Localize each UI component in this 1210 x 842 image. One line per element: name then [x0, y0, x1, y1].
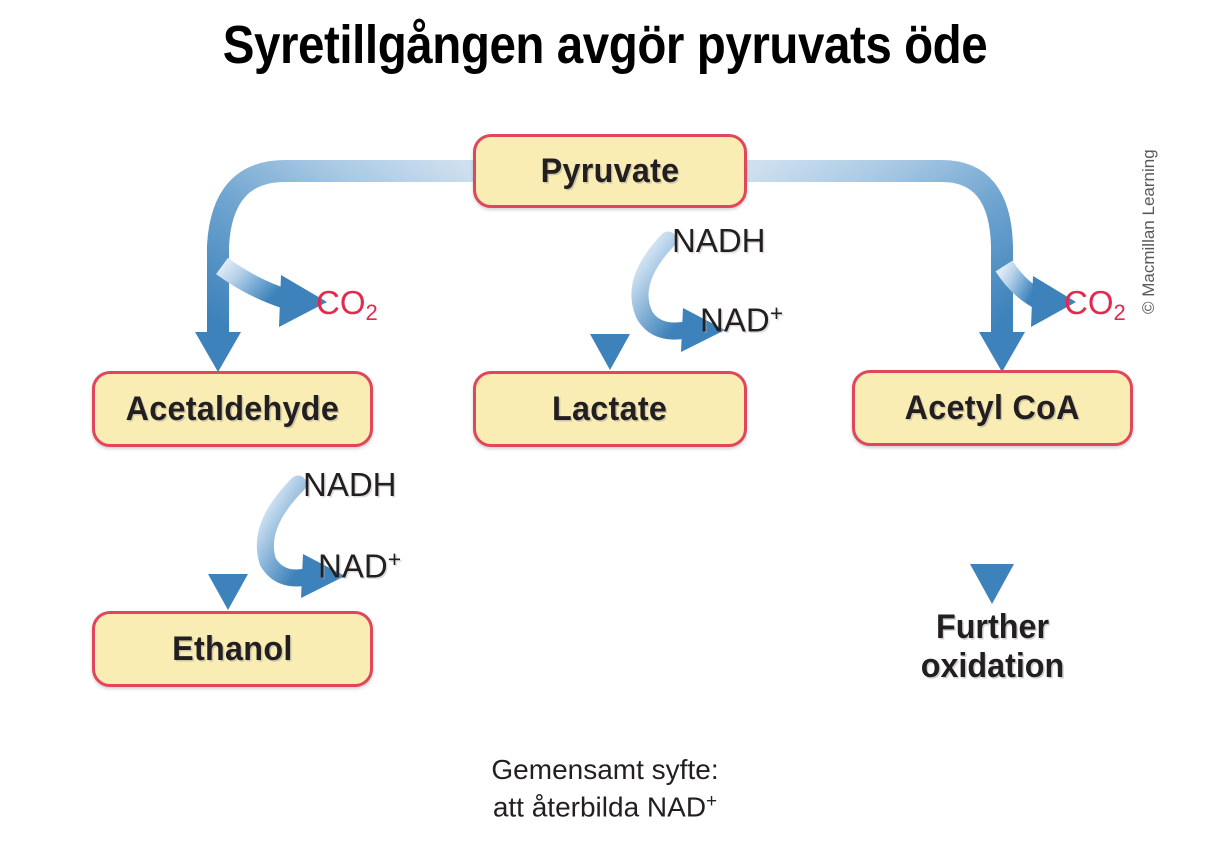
- label-nadplus-ethanol-superscript: +: [388, 546, 401, 572]
- copyright-notice: © Macmillan Learning: [1139, 149, 1159, 314]
- node-acetyl-coa[interactable]: Acetyl CoA: [852, 370, 1133, 446]
- label-co2-left-subscript: 2: [366, 300, 378, 325]
- label-co2-right-base: CO: [1064, 284, 1114, 321]
- node-pyruvate[interactable]: Pyruvate: [473, 134, 747, 208]
- node-acetyl-coa-label: Acetyl CoA: [905, 389, 1080, 428]
- label-co2-right: CO2: [1064, 284, 1126, 326]
- label-co2-right-subscript: 2: [1114, 300, 1126, 325]
- edge-co2-left: [222, 266, 327, 327]
- label-co2-left-base: CO: [316, 284, 366, 321]
- label-co2-left: CO2: [316, 284, 378, 326]
- label-nadh-lactate-base: NADH: [672, 222, 766, 259]
- edge-acetylcoa-to-further-oxidation: [970, 446, 1014, 604]
- node-further-oxidation-line1: Further: [859, 608, 1126, 647]
- label-nadplus-lactate-base: NAD: [700, 301, 770, 338]
- caption-line-2-superscript: +: [706, 791, 717, 812]
- node-pyruvate-label: Pyruvate: [541, 152, 680, 191]
- label-nadh-lactate-branch: NADH: [672, 222, 766, 260]
- node-acetaldehyde[interactable]: Acetaldehyde: [92, 371, 373, 447]
- node-ethanol-label: Ethanol: [172, 630, 292, 669]
- edge-pyruvate-to-acetyl-coa: [747, 171, 1025, 372]
- edge-acetaldehyde-to-ethanol: [208, 447, 248, 610]
- caption-line-2: att återbilda NAD+: [0, 789, 1210, 826]
- node-lactate[interactable]: Lactate: [473, 371, 747, 447]
- label-nadplus-ethanol-branch: NAD+: [318, 546, 401, 585]
- label-nadplus-ethanol-base: NAD: [318, 547, 388, 584]
- label-nadplus-lactate-superscript: +: [770, 300, 783, 326]
- node-lactate-label: Lactate: [552, 390, 667, 429]
- caption-line-1: Gemensamt syfte:: [0, 752, 1210, 789]
- label-nadh-ethanol-branch: NADH: [303, 466, 397, 504]
- edge-pyruvate-to-lactate: [590, 208, 630, 370]
- label-nadh-ethanol-base: NADH: [303, 466, 397, 503]
- node-ethanol[interactable]: Ethanol: [92, 611, 373, 687]
- node-acetaldehyde-label: Acetaldehyde: [126, 390, 339, 429]
- caption-line-2-text: att återbilda NAD: [493, 791, 706, 822]
- node-further-oxidation: Further oxidation: [859, 608, 1126, 686]
- caption: Gemensamt syfte: att återbilda NAD+: [0, 752, 1210, 826]
- label-nadplus-lactate-branch: NAD+: [700, 300, 783, 339]
- diagram-canvas: Syretillgången avgör pyruvats öde: [0, 0, 1210, 842]
- node-further-oxidation-line2: oxidation: [859, 647, 1126, 686]
